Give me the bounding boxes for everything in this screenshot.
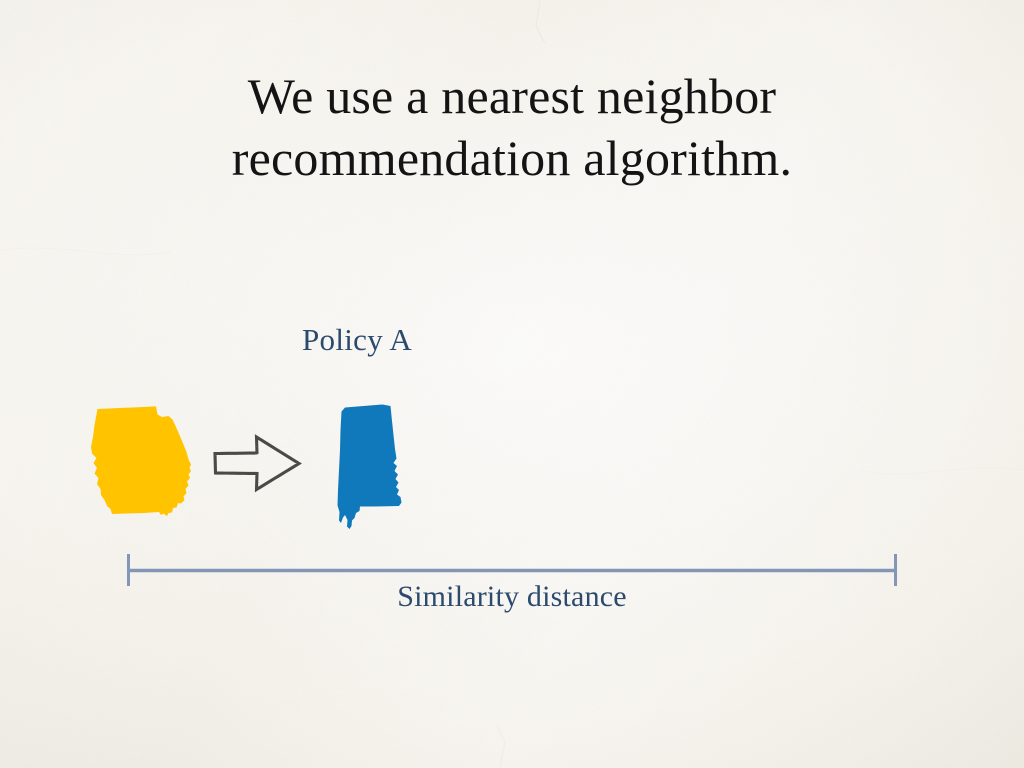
alabama-state-shape [332, 402, 432, 534]
title-line-2: recommendation algorithm. [96, 128, 928, 190]
georgia-state-shape [88, 404, 194, 522]
slide-canvas: We use a nearest neighbor recommendation… [0, 0, 1024, 768]
slide-title: We use a nearest neighbor recommendation… [0, 66, 1024, 189]
similarity-distance-caption: Similarity distance [126, 580, 898, 614]
right-arrow-outline-icon [211, 430, 303, 496]
policy-a-label: Policy A [302, 322, 412, 358]
title-line-1: We use a nearest neighbor [96, 66, 928, 128]
